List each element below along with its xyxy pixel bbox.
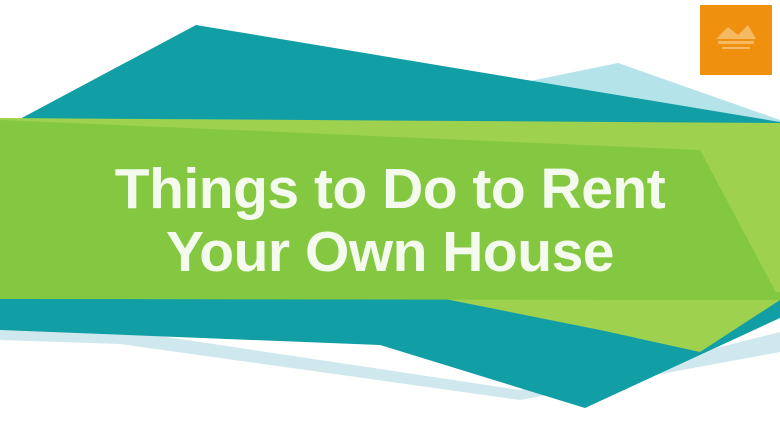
slide-canvas: Things to Do to Rent Your Own House: [0, 0, 780, 440]
house-logo[interactable]: [700, 5, 772, 75]
house-roof-icon: [714, 21, 758, 55]
decorative-background: [0, 0, 780, 440]
